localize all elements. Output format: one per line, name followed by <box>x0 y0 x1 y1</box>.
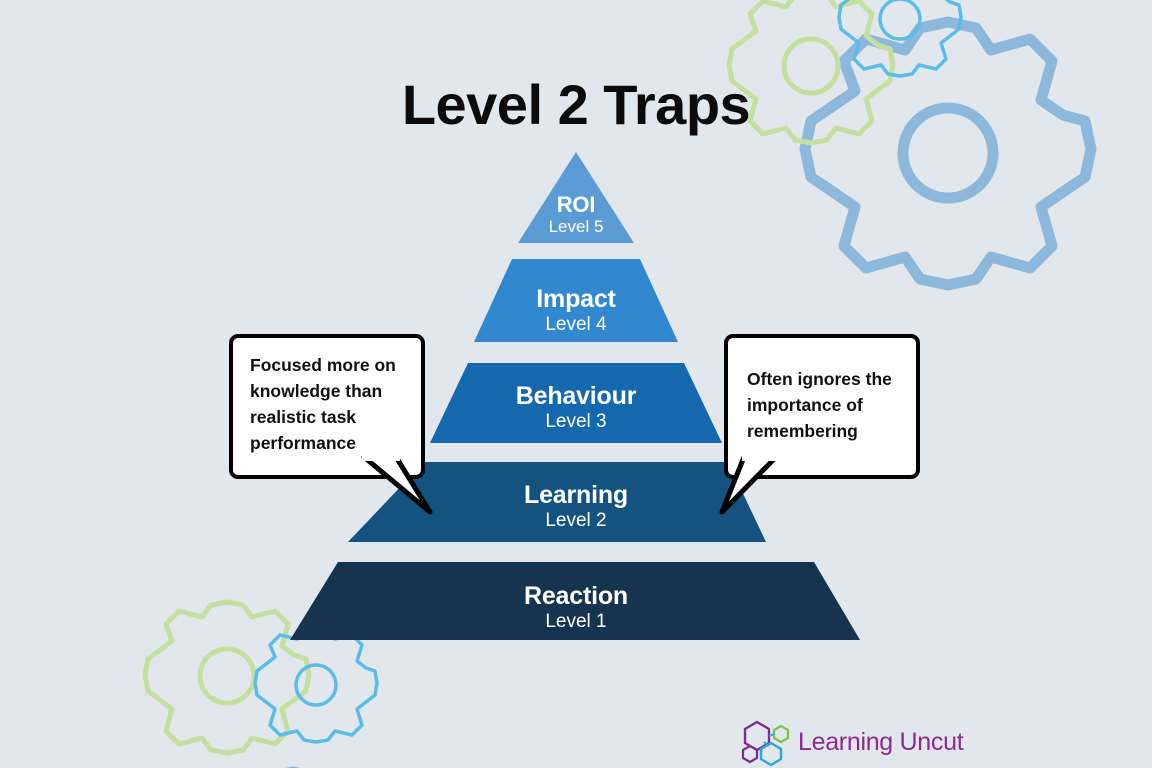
pyramid-graphic <box>0 0 1152 768</box>
callout-left[interactable]: Focused more on knowledge than realistic… <box>229 334 425 479</box>
brand-logo[interactable]: Learning Uncut <box>740 718 963 766</box>
hexagon-cluster-icon <box>740 718 792 766</box>
pyramid-tier-1[interactable] <box>290 562 860 640</box>
pyramid-tier-3[interactable] <box>430 363 722 443</box>
callout-right-text: Often ignores the importance of remember… <box>747 367 902 445</box>
pyramid-tier-5[interactable] <box>518 152 634 243</box>
pyramid-tier-4[interactable] <box>474 259 678 342</box>
callout-right[interactable]: Often ignores the importance of remember… <box>724 334 920 479</box>
callout-left-text: Focused more on knowledge than realistic… <box>250 353 405 457</box>
brand-logo-text: Learning Uncut <box>798 730 963 755</box>
slide-canvas: Level 2 Traps ROI Level 5 Impact Level 4… <box>0 0 1152 768</box>
